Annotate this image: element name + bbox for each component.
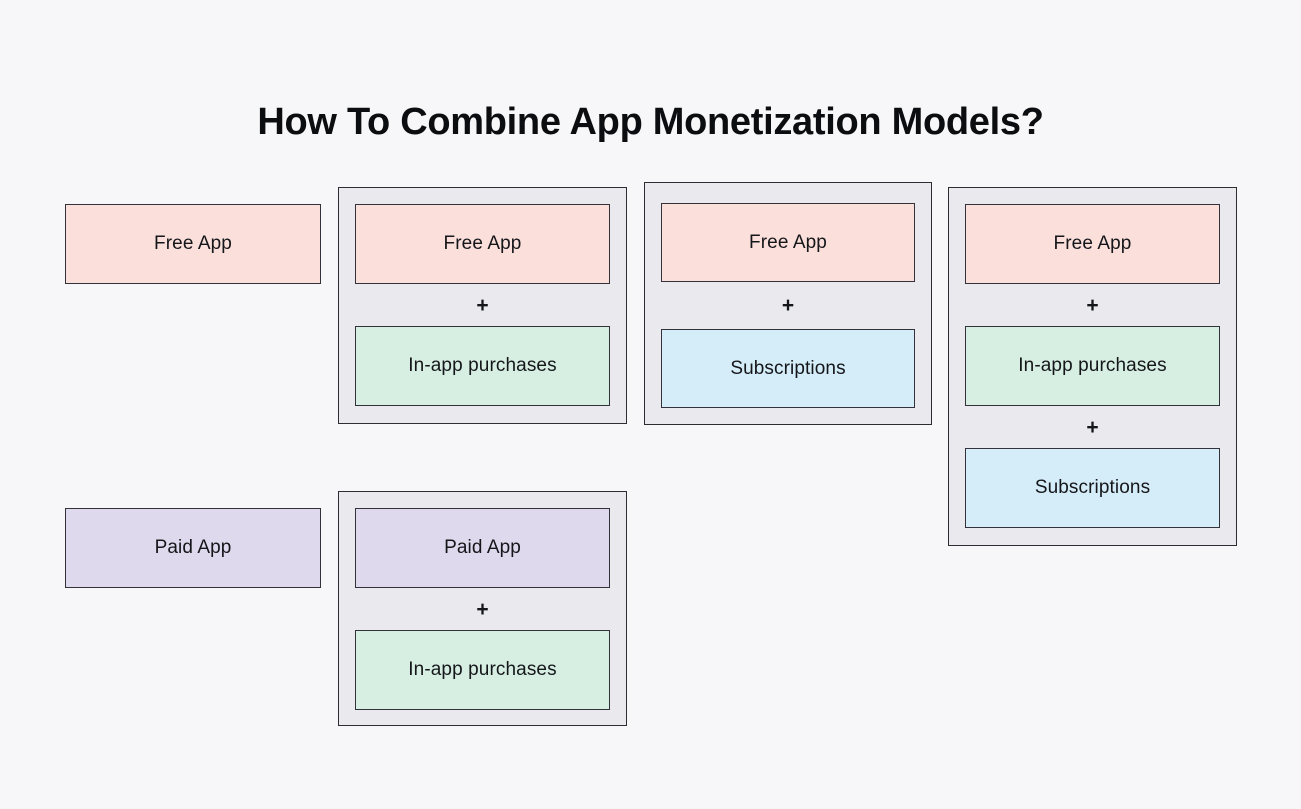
box-subscriptions: Subscriptions (965, 448, 1220, 528)
page-title: How To Combine App Monetization Models? (0, 99, 1301, 145)
box-in-app-purchases: In-app purchases (355, 326, 610, 406)
box-in-app-purchases: In-app purchases (355, 630, 610, 710)
box-paid-app: Paid App (355, 508, 610, 588)
box-in-app-purchases: In-app purchases (965, 326, 1220, 406)
box-free-app-standalone: Free App (65, 204, 321, 284)
group-paid-app-plus-in-app-purchases: Paid App + In-app purchases (338, 491, 627, 726)
diagram-canvas: How To Combine App Monetization Models? … (0, 0, 1301, 809)
box-free-app: Free App (965, 204, 1220, 284)
plus-separator: + (476, 284, 488, 326)
box-subscriptions: Subscriptions (661, 329, 915, 408)
group-free-app-plus-subscriptions: Free App + Subscriptions (644, 182, 932, 425)
plus-separator: + (1086, 284, 1098, 326)
box-free-app: Free App (661, 203, 915, 282)
plus-separator: + (1086, 406, 1098, 448)
box-paid-app-standalone: Paid App (65, 508, 321, 588)
group-free-app-plus-in-app-purchases-plus-subscriptions: Free App + In-app purchases + Subscripti… (948, 187, 1237, 546)
group-free-app-plus-in-app-purchases: Free App + In-app purchases (338, 187, 627, 424)
plus-separator: + (782, 282, 794, 329)
box-free-app: Free App (355, 204, 610, 284)
plus-separator: + (476, 588, 488, 630)
